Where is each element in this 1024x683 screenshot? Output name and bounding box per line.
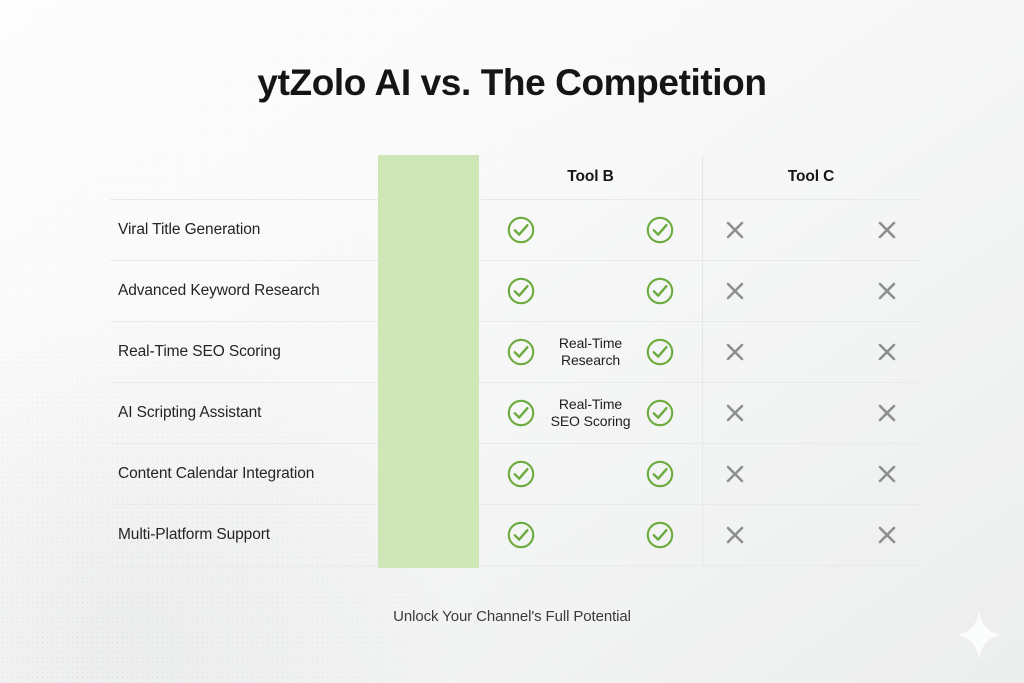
header-label-toolb: Tool B	[507, 168, 674, 186]
check-bold-icon	[407, 271, 451, 311]
table-row: Advanced Keyword Research	[110, 261, 920, 322]
check-bold-icon	[407, 393, 451, 433]
feature-cell: Advanced Keyword Research	[110, 282, 378, 300]
x-mark-icon	[724, 219, 746, 241]
header-cell-ytzolo[interactable]: ytZolo AI	[378, 168, 479, 186]
header-cell-toolc[interactable]: Tool C	[702, 168, 920, 186]
toolb-cell: Real-Time SEO Scoring	[479, 396, 702, 430]
toolc-cell	[702, 463, 920, 485]
x-mark-icon	[876, 524, 898, 546]
toolc-cell	[702, 524, 920, 546]
ytzolo-cell	[378, 454, 479, 494]
feature-label: Viral Title Generation	[118, 221, 260, 238]
ytzolo-cell	[378, 332, 479, 372]
ytzolo-cell	[378, 393, 479, 433]
check-circle-icon	[646, 460, 674, 488]
table-header-row: ytZolo AI Tool B Tool C	[110, 155, 920, 200]
toolc-cell	[702, 280, 920, 302]
toolb-note: Real-Time Research	[535, 335, 646, 369]
toolb-note: Real-Time SEO Scoring	[535, 396, 646, 430]
x-mark-icon	[876, 341, 898, 363]
check-circle-icon	[507, 277, 535, 305]
check-circle-icon	[507, 216, 535, 244]
toolb-cell: Real-Time Research	[479, 335, 702, 369]
x-mark-icon	[724, 280, 746, 302]
feature-label: Advanced Keyword Research	[118, 282, 320, 299]
comparison-table: ytZolo AI Tool B Tool C Viral Title Gene…	[110, 155, 920, 568]
table-row: AI Scripting AssistantReal-Time SEO Scor…	[110, 383, 920, 444]
x-mark-icon	[876, 219, 898, 241]
x-mark-icon	[876, 463, 898, 485]
table-row: Multi-Platform Support	[110, 505, 920, 566]
header-label-toolc: Tool C	[724, 168, 898, 186]
x-mark-icon	[724, 341, 746, 363]
check-circle-icon	[507, 338, 535, 366]
check-circle-icon	[646, 338, 674, 366]
check-circle-icon	[646, 521, 674, 549]
toolb-cell	[479, 460, 702, 488]
x-mark-icon	[724, 463, 746, 485]
feature-label: Multi-Platform Support	[118, 526, 270, 543]
table-row: Real-Time SEO ScoringReal-Time Research	[110, 322, 920, 383]
header-cell-toolb[interactable]: Tool B	[479, 168, 702, 186]
feature-cell: Multi-Platform Support	[110, 526, 378, 544]
toolc-cell	[702, 402, 920, 424]
feature-cell: AI Scripting Assistant	[110, 404, 378, 422]
check-circle-icon	[507, 521, 535, 549]
toolb-cell	[479, 216, 702, 244]
column-divider-toolb-toolc	[702, 155, 703, 568]
header-label-ytzolo: ytZolo AI	[378, 168, 479, 186]
x-mark-icon	[876, 280, 898, 302]
check-circle-icon	[507, 460, 535, 488]
footer-tagline: Unlock Your Channel's Full Potential	[0, 608, 1024, 625]
check-bold-icon	[407, 332, 451, 372]
feature-label: Content Calendar Integration	[118, 465, 314, 482]
check-circle-icon	[646, 216, 674, 244]
feature-cell: Real-Time SEO Scoring	[110, 343, 378, 361]
check-circle-icon	[646, 399, 674, 427]
check-circle-icon	[646, 277, 674, 305]
table-row: Content Calendar Integration	[110, 444, 920, 505]
check-bold-icon	[407, 210, 451, 250]
ytzolo-cell	[378, 515, 479, 555]
ytzolo-cell	[378, 210, 479, 250]
table-grid: ytZolo AI Tool B Tool C Viral Title Gene…	[110, 155, 920, 568]
check-bold-icon	[407, 454, 451, 494]
feature-label: AI Scripting Assistant	[118, 404, 261, 421]
feature-cell: Viral Title Generation	[110, 221, 378, 239]
sparkle-icon	[956, 609, 1002, 661]
x-mark-icon	[876, 402, 898, 424]
check-bold-icon	[407, 515, 451, 555]
check-circle-icon	[507, 399, 535, 427]
x-mark-icon	[724, 524, 746, 546]
table-row: Viral Title Generation	[110, 200, 920, 261]
toolc-cell	[702, 341, 920, 363]
ytzolo-cell	[378, 271, 479, 311]
toolb-cell	[479, 277, 702, 305]
feature-label: Real-Time SEO Scoring	[118, 343, 281, 360]
page-title: ytZolo AI vs. The Competition	[0, 62, 1024, 104]
toolb-cell	[479, 521, 702, 549]
feature-cell: Content Calendar Integration	[110, 465, 378, 483]
toolc-cell	[702, 219, 920, 241]
x-mark-icon	[724, 402, 746, 424]
